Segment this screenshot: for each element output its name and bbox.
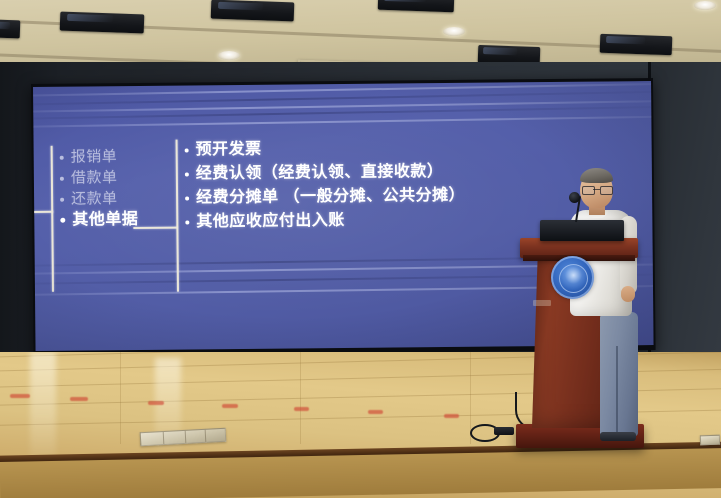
speaker-shoe: [600, 432, 636, 441]
podium-emblem: [551, 256, 594, 299]
bullet-icon: [60, 155, 64, 159]
left-column-tick: [33, 211, 53, 213]
court-marking: [444, 414, 459, 418]
list-item: 还款单: [60, 188, 138, 210]
list-item-label: 预开发票: [196, 142, 262, 159]
list-item: 预开发票: [185, 136, 465, 163]
list-item-highlighted: 其他单据: [60, 209, 138, 231]
hall-wall-right: [650, 62, 721, 392]
eyeglasses-icon: [581, 186, 612, 193]
bullet-icon: [60, 197, 64, 201]
court-marking: [10, 394, 30, 398]
list-item-label: 经费认领（经费认领、直接收款）: [196, 164, 444, 182]
laptop[interactable]: [540, 220, 624, 241]
downlight-icon: [443, 27, 465, 36]
list-item-label: 其他单据: [72, 211, 138, 228]
lecture-hall-photo: 报销单 借款单 还款单 其他单据: [0, 0, 721, 498]
ceiling-acoustic-panel: [0, 20, 20, 39]
list-item-label: 经费分摊单 （一般分摊、公共分摊）: [196, 188, 465, 207]
downlight-icon: [218, 51, 240, 60]
left-column-rule: [51, 146, 54, 292]
floor-marker: [700, 435, 720, 446]
microphone-icon[interactable]: [569, 192, 580, 203]
bullet-icon: [60, 176, 64, 180]
list-item-label: 借款单: [71, 170, 118, 185]
court-marking: [148, 401, 164, 405]
cable-connector-box: [494, 427, 514, 435]
list-item: 经费认领（经费认领、直接收款）: [185, 160, 465, 187]
floor-access-plate: [140, 428, 227, 446]
ceiling-acoustic-panel: [600, 34, 673, 56]
bullet-icon: [185, 220, 189, 224]
list-item: 其他应收应付出入账: [185, 208, 465, 235]
bullet-icon: [185, 196, 189, 200]
ceiling-acoustic-panel: [211, 0, 295, 21]
list-item: 借款单: [60, 167, 138, 189]
list-item-label: 报销单: [71, 149, 118, 164]
ceiling-acoustic-panel: [60, 12, 145, 34]
bullet-icon: [185, 172, 189, 176]
right-column-rule: [176, 140, 179, 292]
list-item: 经费分摊单 （一般分摊、公共分摊）: [185, 184, 465, 211]
downlight-icon: [694, 1, 716, 10]
podium-side-panel: [533, 300, 551, 306]
list-item-label: 还款单: [71, 191, 118, 206]
court-marking: [70, 397, 88, 401]
column-connector-rule: [133, 227, 177, 229]
bullet-icon: [185, 148, 189, 152]
court-marking: [368, 410, 383, 414]
court-marking: [222, 404, 238, 408]
slide-right-column: 预开发票 经费认领（经费认领、直接收款） 经费分摊单 （一般分摊、公共分摊） 其…: [185, 136, 466, 235]
ceiling-acoustic-panel: [378, 0, 455, 12]
court-marking: [294, 407, 309, 411]
speaker-legs: [600, 312, 638, 436]
bullet-icon: [60, 218, 65, 223]
slide-left-column: 报销单 借款单 还款单 其他单据: [60, 146, 139, 231]
list-item-label: 其他应收应付出入账: [196, 213, 345, 230]
list-item: 报销单: [60, 146, 138, 168]
speaker-hand: [621, 286, 635, 302]
